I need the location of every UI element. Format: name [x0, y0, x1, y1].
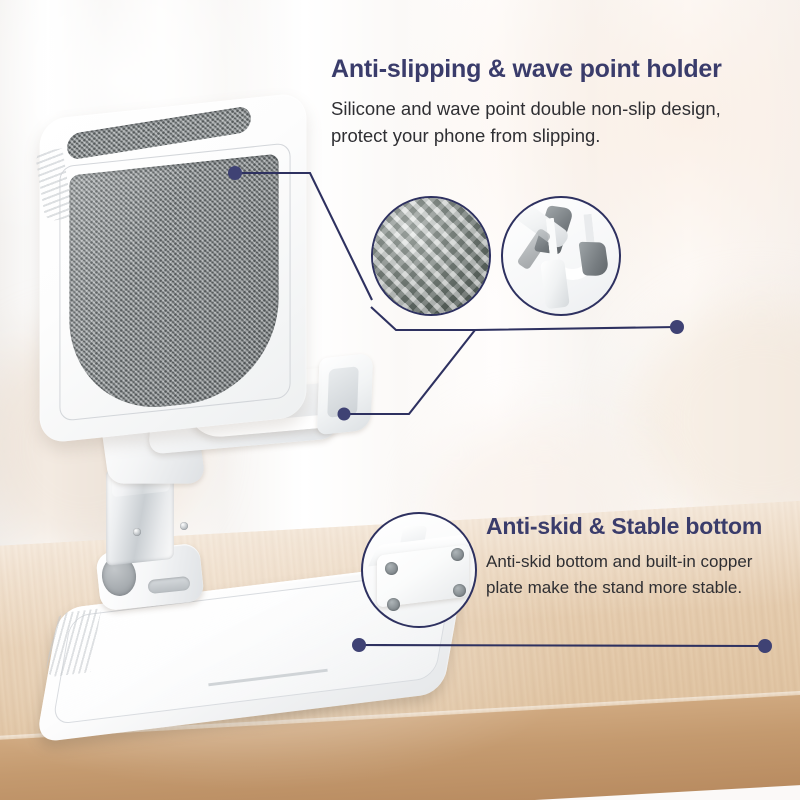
anti-skid-pad-top-left	[385, 562, 398, 575]
feature-anti-skid-body-line-1: Anti-skid bottom and built-in copper	[486, 549, 762, 575]
callout-base-underside-circle	[361, 512, 477, 628]
anti-skid-pad-top-right	[451, 548, 464, 561]
wave-point-texture-shading	[373, 198, 489, 314]
feature-anti-slipping-heading: Anti-slipping & wave point holder	[331, 55, 722, 84]
holder-clip-silicone-right	[578, 242, 609, 277]
stand-screw-left	[133, 528, 141, 536]
feature-anti-slipping-body-line-1: Silicone and wave point double non-slip …	[331, 95, 722, 122]
feature-anti-skid-text: Anti-skid & Stable bottom Anti-skid bott…	[486, 513, 762, 601]
feature-anti-slipping-body-line-2: protect your phone from slipping.	[331, 122, 722, 149]
stand-screw-right	[180, 522, 188, 530]
feature-anti-slipping-text: Anti-slipping & wave point holder Silico…	[331, 55, 722, 149]
callout-holder-clip-circle	[501, 196, 621, 316]
product-infographic: Anti-slipping & wave point holder Silico…	[0, 0, 800, 800]
anti-skid-pad-bottom-left	[387, 598, 400, 611]
feature-anti-skid-heading: Anti-skid & Stable bottom	[486, 513, 762, 540]
feature-anti-skid-body-line-2: plate make the stand more stable.	[486, 575, 762, 601]
callout-wave-texture-circle	[371, 196, 491, 316]
stand-cradle-hook-inner	[327, 366, 359, 418]
anti-skid-pad-bottom-right	[453, 584, 466, 597]
